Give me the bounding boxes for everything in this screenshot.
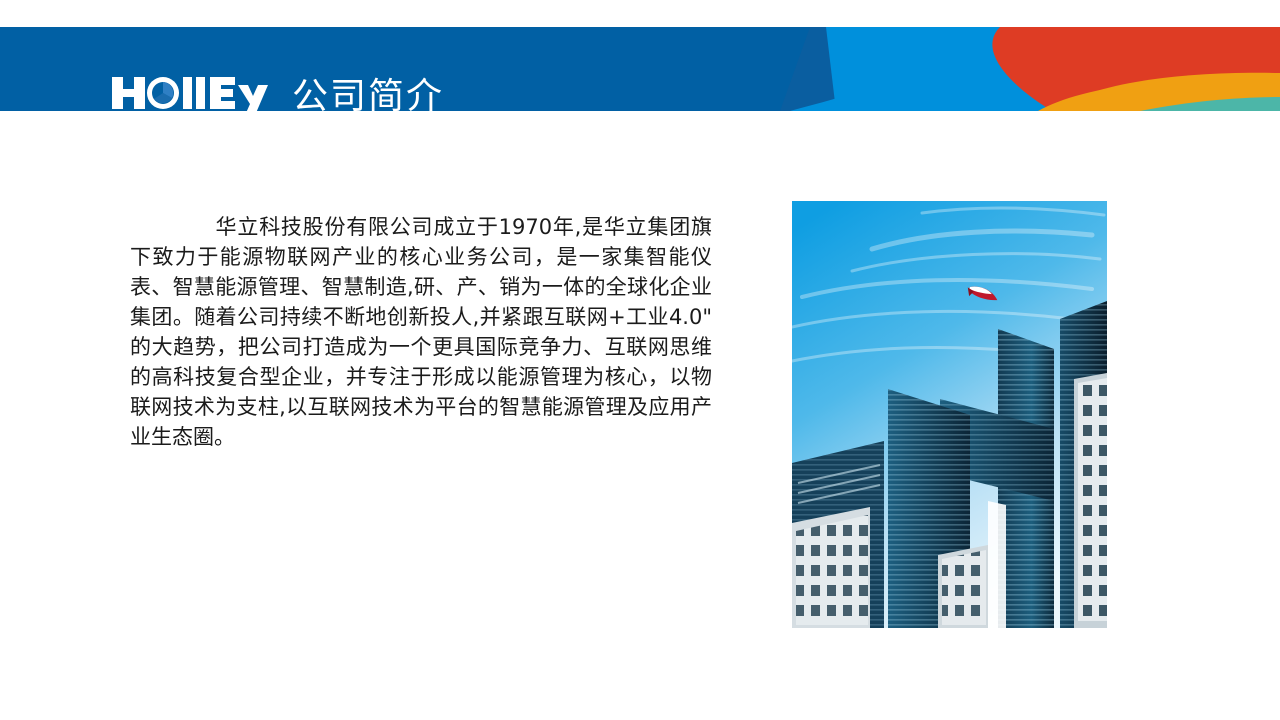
slide-header-band: TECH 华 立 科 技 公司简介 <box>0 27 1280 111</box>
page-title: 公司简介 <box>292 73 444 111</box>
holley-tech-logo: TECH 华 立 科 技 <box>110 75 270 111</box>
company-profile-paragraph: 华立科技股份有限公司成立于1970年,是华立集团旗下致力于能源物联网产业的核心业… <box>130 212 712 452</box>
holley-logo-svg: TECH 华 立 科 技 <box>110 75 270 111</box>
slide-root: TECH 华 立 科 技 公司简介 华立科技股份有限公司成立于1970年,是华立… <box>0 0 1280 720</box>
modern-office-buildings-photo <box>792 201 1107 628</box>
photo-artwork <box>792 201 1107 628</box>
